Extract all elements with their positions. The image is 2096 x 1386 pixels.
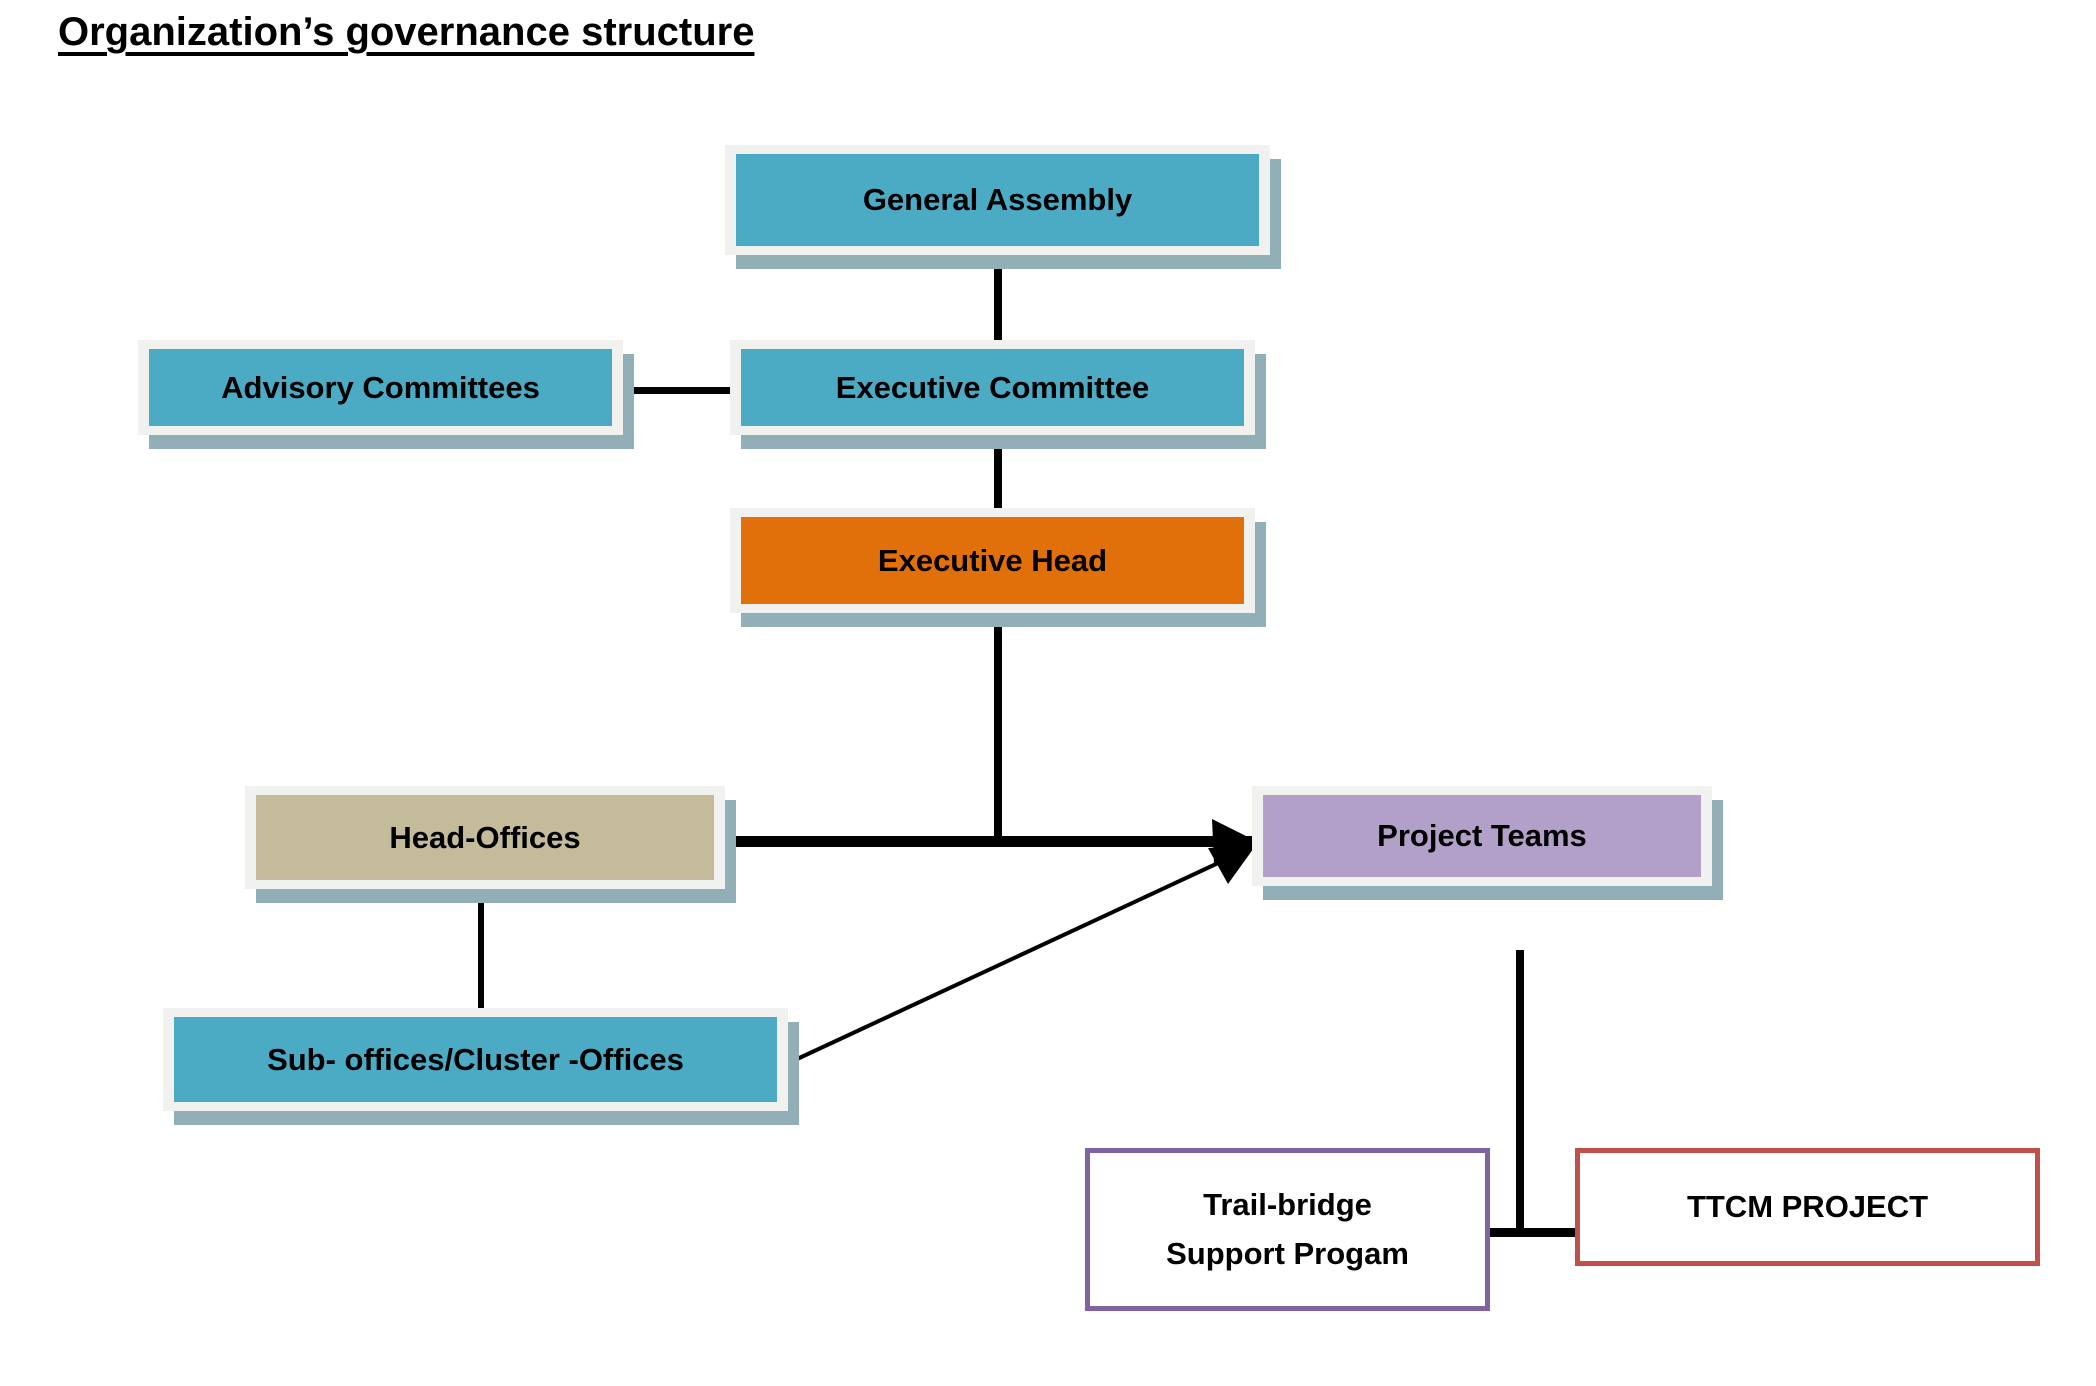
node-advisory-committees[interactable]: Advisory Committees [138,340,623,435]
node-executive-head-label: Executive Head [878,543,1107,579]
connector-project-teams-to-bottom-bus [1516,950,1524,1234]
node-sub-offices-fill: Sub- offices/Cluster -Offices [174,1017,777,1102]
node-sub-offices-label: Sub- offices/Cluster -Offices [267,1042,684,1078]
connector-advisory-committees-to-executive-committee [623,387,738,394]
node-ttcm-project-label: TTCM PROJECT [1687,1183,1928,1231]
node-head-offices[interactable]: Head-Offices [245,786,725,889]
diagram-canvas: Organization’s governance structure Gene… [0,0,2096,1386]
node-trail-bridge-support-program[interactable]: Trail-bridge Support Progam [1085,1148,1490,1311]
diagonal-sub-offices-to-project-teams [795,851,1244,1060]
node-head-offices-fill: Head-Offices [256,795,714,880]
node-project-teams-fill: Project Teams [1263,795,1701,877]
node-sub-offices[interactable]: Sub- offices/Cluster -Offices [163,1008,788,1111]
node-trail-bridge-label-line2: Support Progam [1166,1230,1409,1278]
connector-executive-head-to-bus [994,615,1002,843]
node-executive-committee-label: Executive Committee [836,370,1150,406]
node-general-assembly[interactable]: General Assembly [725,145,1270,255]
node-trail-bridge-support-program-text: Trail-bridge Support Progam [1166,1181,1409,1277]
connector-head-offices-to-project-teams [722,836,1252,847]
node-executive-committee[interactable]: Executive Committee [730,340,1255,435]
node-general-assembly-fill: General Assembly [736,154,1259,246]
node-ttcm-project[interactable]: TTCM PROJECT [1575,1148,2040,1266]
page-title: Organization’s governance structure [58,10,754,55]
node-executive-head-fill: Executive Head [741,517,1244,604]
node-trail-bridge-label-line1: Trail-bridge [1166,1181,1409,1229]
node-head-offices-label: Head-Offices [389,820,580,856]
connector-head-offices-to-sub-offices [478,890,484,1012]
node-executive-committee-fill: Executive Committee [741,349,1244,426]
node-advisory-committees-label: Advisory Committees [221,370,540,406]
node-executive-head[interactable]: Executive Head [730,508,1255,613]
arrowhead-to-project-teams-diagonal [1208,845,1256,884]
node-project-teams[interactable]: Project Teams [1252,786,1712,886]
node-advisory-committees-fill: Advisory Committees [149,349,612,426]
node-general-assembly-label: General Assembly [863,182,1132,218]
node-project-teams-label: Project Teams [1377,818,1587,854]
